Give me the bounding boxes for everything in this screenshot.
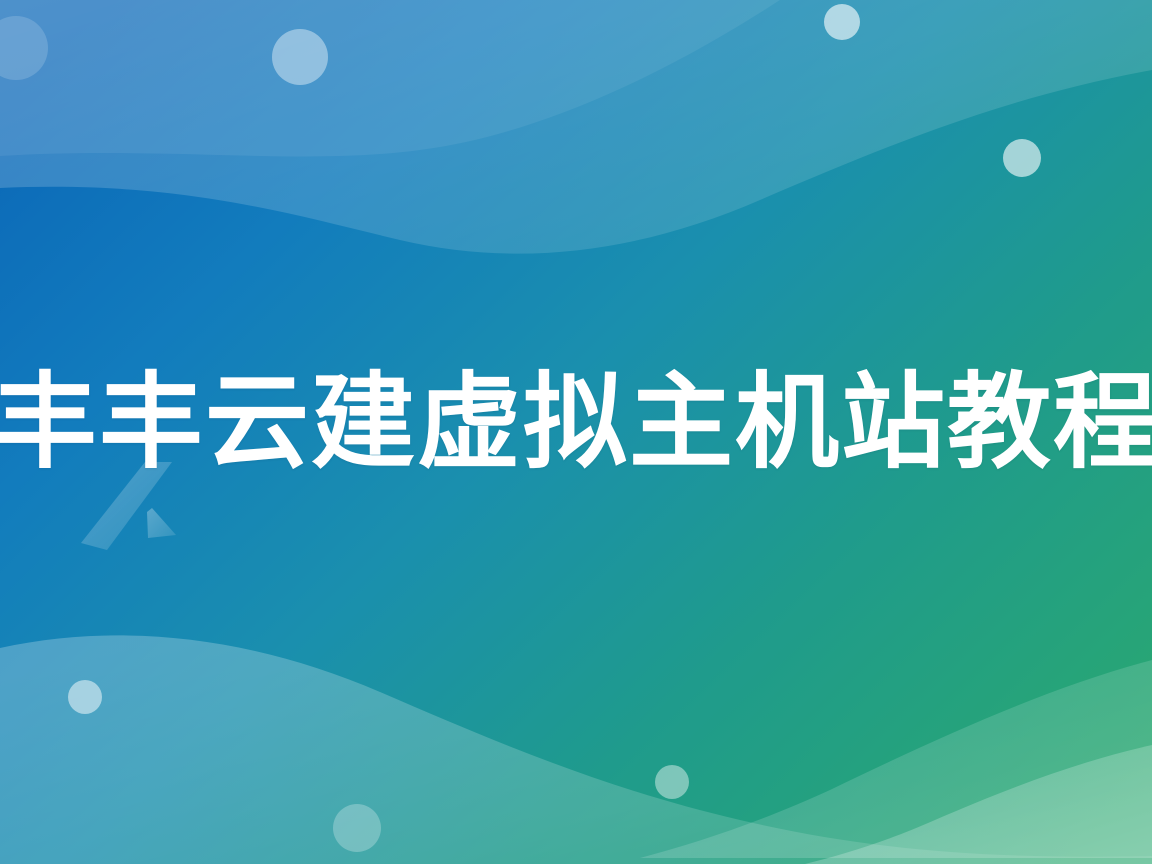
title-layer: 丰丰云建虚拟主机站教程 <box>0 0 1152 864</box>
page-title: 丰丰云建虚拟主机站教程 <box>0 367 1152 479</box>
slide-canvas: 丰丰云建虚拟主机站教程 <box>0 0 1152 864</box>
